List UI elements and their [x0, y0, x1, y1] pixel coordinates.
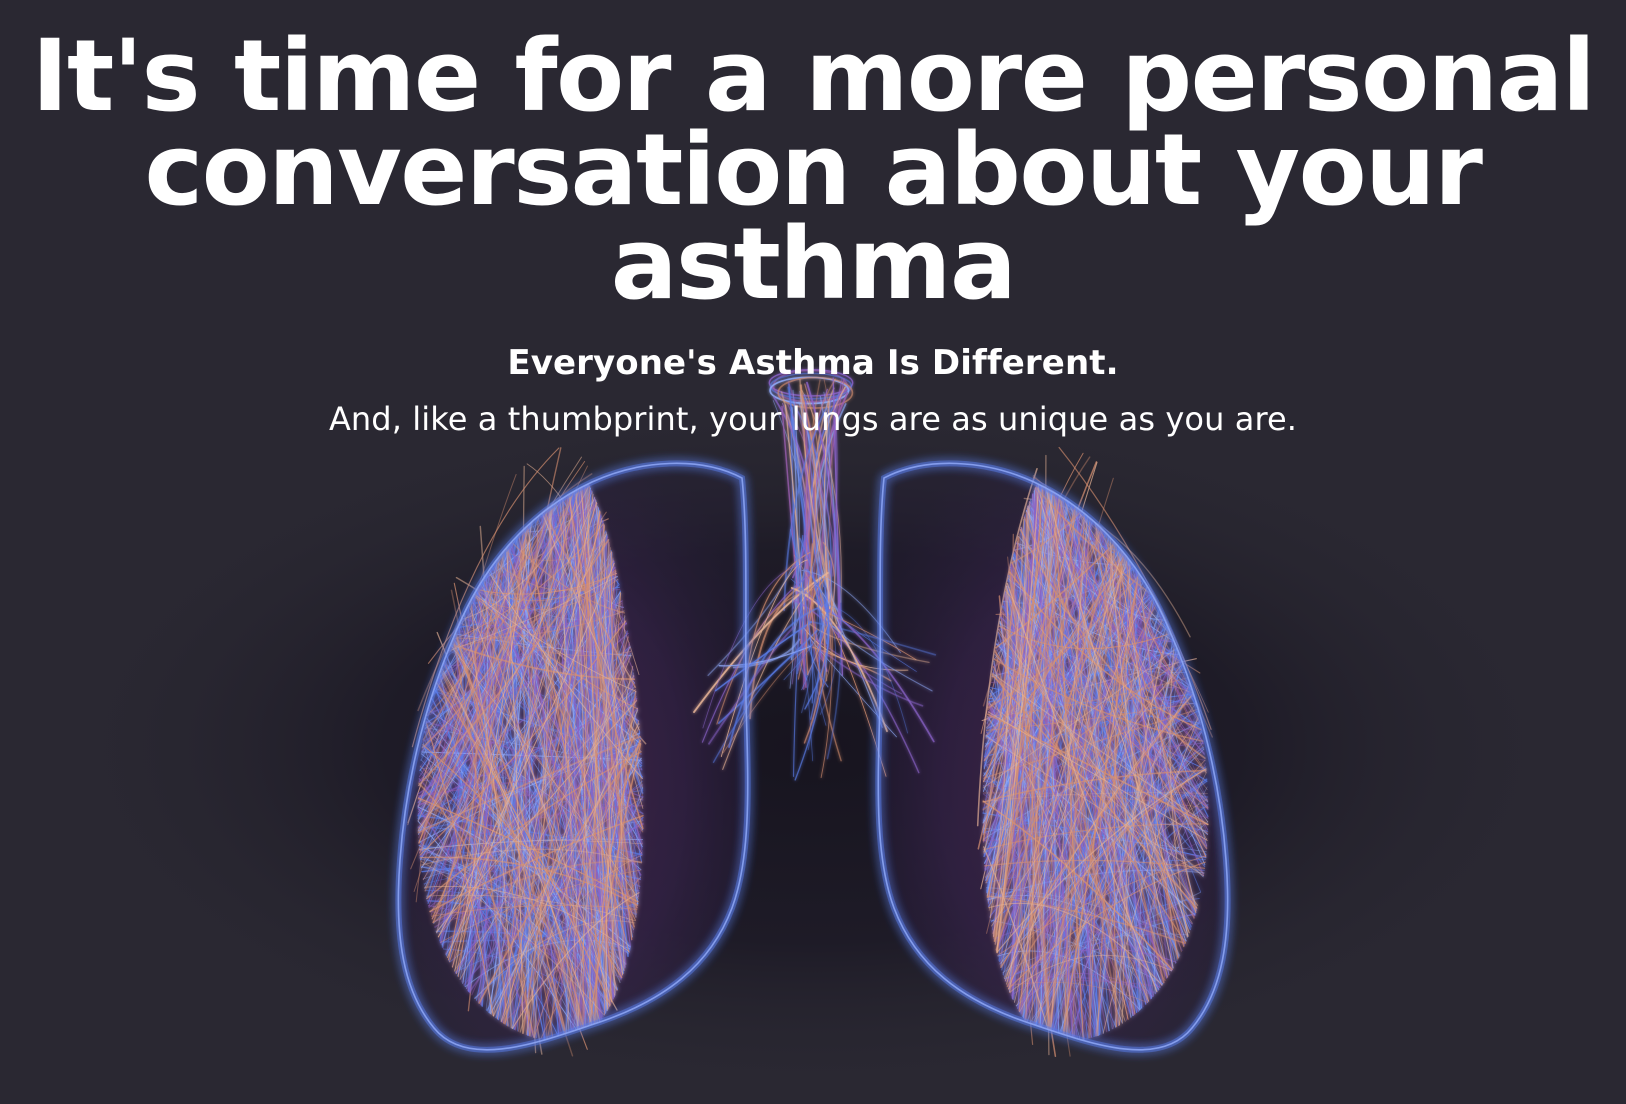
illustration-backdrop [0, 360, 1626, 1104]
subheading-primary: Everyone's Asthma Is Different. [24, 342, 1602, 385]
hero-text-block: It's time for a more personal conversati… [0, 0, 1626, 439]
lungs-wireframe-svg [0, 360, 1626, 1104]
page-title: It's time for a more personal conversati… [0, 0, 1626, 312]
subheading-group: Everyone's Asthma Is Different. And, lik… [0, 312, 1626, 439]
lungs-illustration [0, 360, 1626, 1104]
subheading-secondary: And, like a thumbprint, your lungs are a… [24, 399, 1602, 439]
asthma-hero-banner: It's time for a more personal conversati… [0, 0, 1626, 1104]
